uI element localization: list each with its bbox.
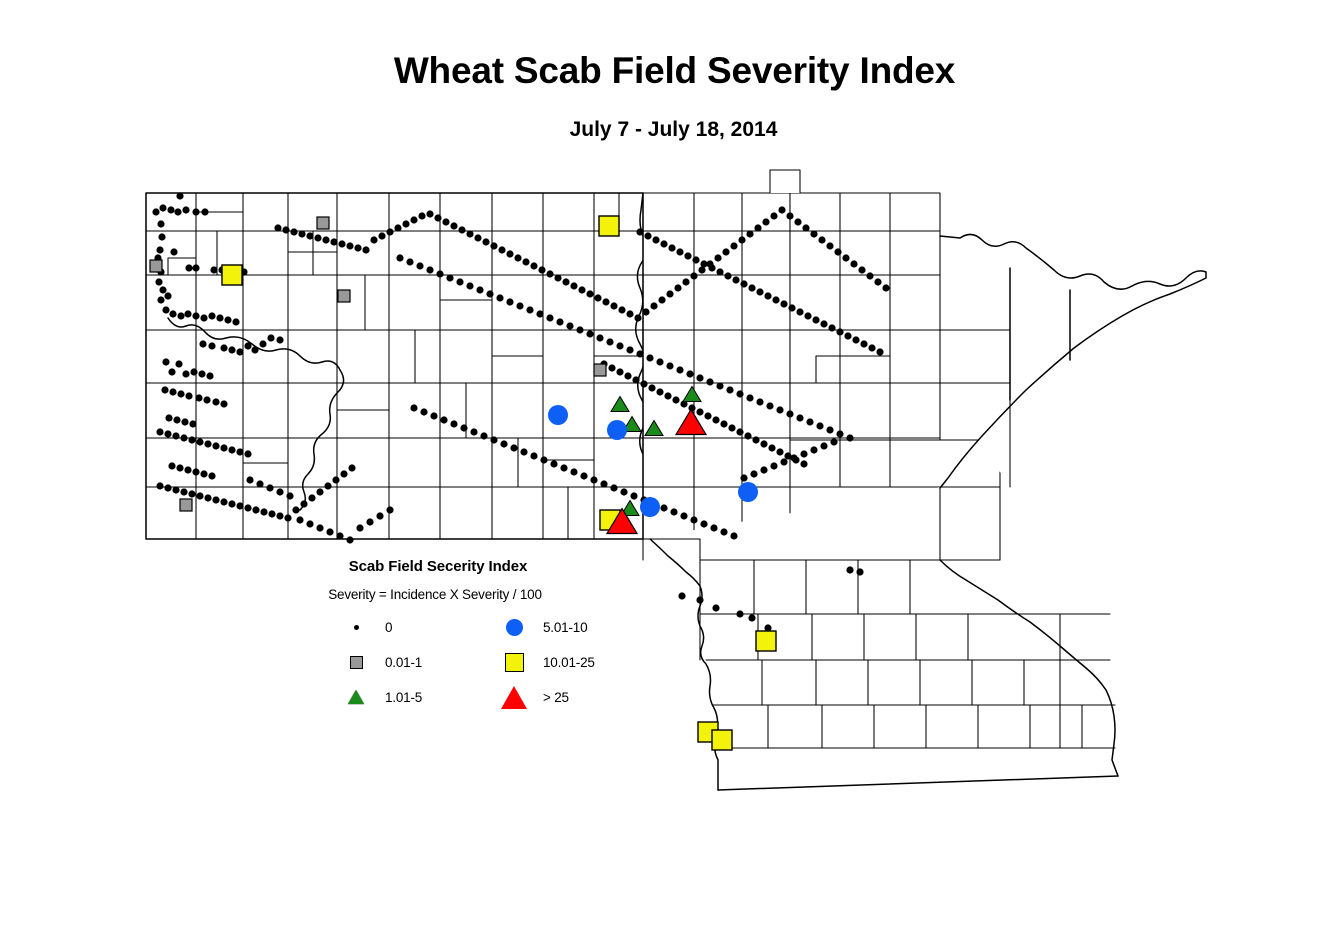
- marker-zero-dot: [656, 388, 663, 395]
- marker-zero-dot: [182, 370, 189, 377]
- marker-zero-dot: [816, 422, 823, 429]
- marker-zero-dot: [176, 192, 183, 199]
- marker-zero-dot: [678, 592, 685, 599]
- marker-zero-dot: [658, 296, 665, 303]
- marker-zero-dot: [156, 482, 163, 489]
- marker-gray-square: [180, 499, 192, 511]
- marker-zero-dot: [756, 398, 763, 405]
- mn-counties: [643, 170, 1115, 748]
- marker-zero-dot: [450, 222, 457, 229]
- marker-zero-dot: [624, 372, 631, 379]
- marker-zero-dot: [660, 240, 667, 247]
- marker-zero-dot: [730, 532, 737, 539]
- marker-zero-dot: [874, 278, 881, 285]
- marker-zero-dot: [828, 324, 835, 331]
- marker-zero-dot: [546, 270, 553, 277]
- marker-zero-dot: [346, 536, 353, 543]
- marker-zero-dot: [856, 568, 863, 575]
- marker-zero-dot: [776, 448, 783, 455]
- marker-zero-dot: [159, 286, 166, 293]
- marker-zero-dot: [794, 218, 801, 225]
- marker-zero-dot: [282, 226, 289, 233]
- marker-zero-dot: [626, 346, 633, 353]
- marker-blue-circle: [548, 405, 568, 425]
- marker-zero-dot: [800, 460, 807, 467]
- marker-zero-dot: [754, 224, 761, 231]
- marker-zero-dot: [852, 336, 859, 343]
- marker-zero-dot: [259, 340, 266, 347]
- marker-zero-dot: [736, 390, 743, 397]
- marker-zero-dot: [188, 490, 195, 497]
- marker-zero-dot: [682, 278, 689, 285]
- marker-zero-dot: [177, 312, 184, 319]
- marker-zero-dot: [554, 274, 561, 281]
- marker-zero-dot: [772, 296, 779, 303]
- marker-zero-dot: [576, 326, 583, 333]
- marker-zero-dot: [410, 404, 417, 411]
- marker-zero-dot: [668, 244, 675, 251]
- marker-zero-dot: [430, 412, 437, 419]
- marker-zero-dot: [466, 282, 473, 289]
- marker-zero-dot: [716, 268, 723, 275]
- marker-zero-dot: [224, 316, 231, 323]
- marker-gray-square: [150, 260, 162, 272]
- marker-zero-dot: [720, 528, 727, 535]
- marker-zero-dot: [634, 314, 641, 321]
- marker-zero-dot: [184, 466, 191, 473]
- marker-zero-dot: [177, 390, 184, 397]
- marker-zero-dot: [290, 228, 297, 235]
- marker-zero-dot: [208, 472, 215, 479]
- marker-yellow-square: [222, 265, 242, 285]
- marker-zero-dot: [522, 258, 529, 265]
- marker-zero-dot: [252, 506, 259, 513]
- marker-zero-dot: [426, 266, 433, 273]
- legend-symbol-10to25: [485, 651, 543, 673]
- marker-zero-dot: [644, 232, 651, 239]
- marker-zero-dot: [199, 340, 206, 347]
- marker-zero-dot: [308, 494, 315, 501]
- marker-zero-dot: [780, 458, 787, 465]
- marker-zero-dot: [204, 494, 211, 501]
- marker-zero-dot: [724, 272, 731, 279]
- marker-zero-dot: [216, 314, 223, 321]
- marker-zero-dot: [196, 438, 203, 445]
- marker-zero-dot: [672, 396, 679, 403]
- marker-zero-dot: [768, 444, 775, 451]
- marker-zero-dot: [174, 208, 181, 215]
- marker-zero-dot: [220, 344, 227, 351]
- marker-zero-dot: [632, 376, 639, 383]
- gray-square-icon: [350, 656, 363, 669]
- marker-zero-dot: [362, 246, 369, 253]
- marker-zero-dot: [366, 518, 373, 525]
- marker-zero-dot: [182, 206, 189, 213]
- legend-label-1to5: 1.01-5: [385, 690, 485, 705]
- marker-zero-dot: [690, 272, 697, 279]
- marker-zero-dot: [726, 386, 733, 393]
- marker-zero-dot: [284, 514, 291, 521]
- marker-zero-dot: [286, 492, 293, 499]
- marker-zero-dot: [378, 232, 385, 239]
- marker-zero-dot: [810, 230, 817, 237]
- marker-zero-dot: [220, 498, 227, 505]
- marker-zero-dot: [306, 232, 313, 239]
- marker-zero-dot: [244, 342, 251, 349]
- legend-symbol-over25: [485, 686, 543, 708]
- marker-zero-dot: [846, 434, 853, 441]
- marker-zero-dot: [500, 440, 507, 447]
- marker-zero-dot: [180, 434, 187, 441]
- marker-zero-dot: [752, 436, 759, 443]
- marker-zero-dot: [560, 464, 567, 471]
- marker-zero-dot: [169, 310, 176, 317]
- marker-zero-dot: [314, 234, 321, 241]
- marker-zero-dot: [640, 380, 647, 387]
- marker-zero-dot: [882, 284, 889, 291]
- green-triangle-icon: [348, 690, 364, 704]
- marker-zero-dot: [155, 278, 162, 285]
- marker-zero-dot: [420, 408, 427, 415]
- marker-zero-dot: [786, 212, 793, 219]
- marker-zero-dot: [578, 286, 585, 293]
- yellow-square-icon: [505, 653, 524, 672]
- marker-zero-dot: [748, 284, 755, 291]
- marker-zero-dot: [530, 262, 537, 269]
- marker-zero-dot: [203, 396, 210, 403]
- marker-zero-dot: [836, 430, 843, 437]
- marker-zero-dot: [700, 260, 707, 267]
- marker-zero-dot: [256, 480, 263, 487]
- marker-zero-dot: [169, 388, 176, 395]
- marker-zero-dot: [316, 524, 323, 531]
- marker-zero-dot: [176, 464, 183, 471]
- marker-zero-dot: [692, 256, 699, 263]
- marker-zero-dot: [434, 214, 441, 221]
- marker-zero-dot: [648, 384, 655, 391]
- marker-zero-dot: [172, 432, 179, 439]
- marker-zero-dot: [866, 272, 873, 279]
- marker-zero-dot: [686, 370, 693, 377]
- marker-zero-dot: [300, 500, 307, 507]
- marker-gray-square: [317, 217, 329, 229]
- small-black-dot-icon: [354, 625, 359, 630]
- marker-zero-dot: [157, 296, 164, 303]
- marker-zero-dot: [636, 350, 643, 357]
- marker-zero-dot: [664, 392, 671, 399]
- marker-zero-dot: [206, 372, 213, 379]
- marker-zero-dot: [562, 278, 569, 285]
- marker-zero-dot: [330, 238, 337, 245]
- marker-zero-dot: [260, 508, 267, 515]
- marker-zero-dot: [185, 264, 192, 271]
- marker-zero-dot: [670, 508, 677, 515]
- marker-zero-dot: [292, 506, 299, 513]
- marker-zero-dot: [170, 248, 177, 255]
- marker-zero-dot: [486, 290, 493, 297]
- red-triangle-icon: [501, 686, 527, 709]
- marker-zero-dot: [618, 306, 625, 313]
- marker-zero-dot: [236, 502, 243, 509]
- marker-zero-dot: [332, 476, 339, 483]
- marker-zero-dot: [740, 474, 747, 481]
- marker-zero-dot: [212, 398, 219, 405]
- marker-zero-dot: [156, 428, 163, 435]
- marker-zero-dot: [760, 466, 767, 473]
- marker-zero-dot: [348, 464, 355, 471]
- map-page: Wheat Scab Field Severity Index July 7 -…: [0, 0, 1341, 926]
- marker-zero-dot: [267, 334, 274, 341]
- marker-zero-dot: [860, 340, 867, 347]
- marker-zero-dot: [738, 236, 745, 243]
- legend-label-5to10: 5.01-10: [543, 620, 595, 635]
- marker-zero-dot: [650, 302, 657, 309]
- marker-zero-dot: [700, 520, 707, 527]
- marker-zero-dot: [756, 288, 763, 295]
- marker-zero-dot: [192, 208, 199, 215]
- legend-label-10to25: 10.01-25: [543, 655, 595, 670]
- marker-zero-dot: [550, 460, 557, 467]
- map-legend: Scab Field Secerity Index Severity = Inc…: [313, 558, 563, 708]
- marker-zero-dot: [570, 282, 577, 289]
- marker-zero-dot: [750, 470, 757, 477]
- marker-zero-dot: [676, 248, 683, 255]
- marker-zero-dot: [164, 292, 171, 299]
- marker-zero-dot: [228, 446, 235, 453]
- marker-zero-dot: [482, 238, 489, 245]
- marker-zero-dot: [306, 520, 313, 527]
- marker-zero-dot: [244, 504, 251, 511]
- marker-zero-dot: [630, 492, 637, 499]
- marker-zero-dot: [168, 368, 175, 375]
- marker-zero-dot: [610, 484, 617, 491]
- marker-zero-dot: [212, 496, 219, 503]
- marker-zero-dot: [356, 524, 363, 531]
- legend-entries: 0 5.01-10 0.01-1 10.01-25 1.01-5 > 25: [313, 616, 563, 708]
- marker-zero-dot: [164, 484, 171, 491]
- marker-zero-dot: [322, 236, 329, 243]
- marker-zero-dot: [610, 302, 617, 309]
- marker-zero-dot: [730, 242, 737, 249]
- marker-zero-dot: [244, 450, 251, 457]
- marker-zero-dot: [201, 208, 208, 215]
- marker-zero-dot: [386, 228, 393, 235]
- marker-gray-square: [338, 290, 350, 302]
- marker-zero-dot: [338, 240, 345, 247]
- legend-symbol-0to1: [327, 651, 385, 673]
- marker-zero-dot: [506, 250, 513, 257]
- marker-zero-dot: [710, 524, 717, 531]
- marker-zero-dot: [586, 330, 593, 337]
- marker-zero-dot: [802, 224, 809, 231]
- marker-zero-dot: [736, 610, 743, 617]
- marker-zero-dot: [192, 468, 199, 475]
- map-canvas[interactable]: [0, 0, 1341, 926]
- marker-zero-dot: [496, 294, 503, 301]
- legend-label-over25: > 25: [543, 690, 595, 705]
- marker-zero-dot: [196, 492, 203, 499]
- marker-zero-dot: [764, 292, 771, 299]
- marker-zero-dot: [298, 230, 305, 237]
- marker-zero-dot: [680, 512, 687, 519]
- marker-zero-dot: [674, 284, 681, 291]
- marker-zero-dot: [600, 480, 607, 487]
- marker-zero-dot: [820, 320, 827, 327]
- marker-zero-dot: [776, 406, 783, 413]
- marker-zero-dot: [520, 448, 527, 455]
- legend-label-0to1: 0.01-1: [385, 655, 485, 670]
- marker-zero-dot: [800, 450, 807, 457]
- marker-zero-dot: [712, 416, 719, 423]
- marker-zero-dot: [228, 346, 235, 353]
- marker-zero-dot: [189, 420, 196, 427]
- marker-zero-dot: [746, 230, 753, 237]
- marker-zero-dot: [556, 318, 563, 325]
- marker-zero-dot: [780, 300, 787, 307]
- marker-zero-dot: [228, 500, 235, 507]
- marker-zero-dot: [458, 226, 465, 233]
- marker-zero-dot: [276, 488, 283, 495]
- marker-zero-dot: [602, 298, 609, 305]
- marker-zero-dot: [180, 488, 187, 495]
- marker-zero-dot: [570, 468, 577, 475]
- marker-zero-dot: [704, 412, 711, 419]
- marker-zero-dot: [712, 604, 719, 611]
- marker-zero-dot: [162, 358, 169, 365]
- marker-zero-dot: [646, 354, 653, 361]
- marker-zero-dot: [590, 476, 597, 483]
- marker-zero-dot: [436, 270, 443, 277]
- marker-zero-dot: [846, 566, 853, 573]
- marker-zero-dot: [442, 218, 449, 225]
- marker-zero-dot: [766, 402, 773, 409]
- marker-zero-dot: [716, 382, 723, 389]
- marker-zero-dot: [200, 314, 207, 321]
- marker-zero-dot: [594, 294, 601, 301]
- marker-zero-dot: [426, 210, 433, 217]
- marker-zero-dot: [161, 386, 168, 393]
- marker-zero-dot: [804, 312, 811, 319]
- marker-zero-dot: [159, 204, 166, 211]
- marker-zero-dot: [456, 278, 463, 285]
- marker-zero-dot: [184, 310, 191, 317]
- marker-zero-dot: [706, 378, 713, 385]
- marker-gray-square: [594, 364, 606, 376]
- marker-zero-dot: [158, 233, 165, 240]
- marker-zero-dot: [720, 420, 727, 427]
- marker-zero-dot: [394, 224, 401, 231]
- marker-zero-dot: [538, 266, 545, 273]
- marker-zero-dot: [850, 260, 857, 267]
- marker-zero-dot: [652, 236, 659, 243]
- marker-zero-dot: [276, 512, 283, 519]
- marker-zero-dot: [708, 264, 715, 271]
- marker-zero-dot: [746, 394, 753, 401]
- marker-zero-dot: [636, 228, 643, 235]
- blue-circle-icon: [506, 619, 523, 636]
- marker-zero-dot: [696, 408, 703, 415]
- marker-zero-dot: [266, 484, 273, 491]
- marker-zero-dot: [208, 312, 215, 319]
- marker-yellow-square: [756, 631, 776, 651]
- marker-zero-dot: [608, 364, 615, 371]
- marker-zero-dot: [616, 368, 623, 375]
- marker-zero-dot: [526, 306, 533, 313]
- marker-zero-dot: [386, 506, 393, 513]
- marker-zero-dot: [208, 342, 215, 349]
- marker-zero-dot: [696, 596, 703, 603]
- marker-zero-dot: [778, 206, 785, 213]
- marker-zero-dot: [826, 426, 833, 433]
- marker-zero-dot: [834, 248, 841, 255]
- marker-zero-dot: [346, 242, 353, 249]
- marker-zero-dot: [232, 318, 239, 325]
- marker-zero-dot: [516, 302, 523, 309]
- marker-blue-circle: [607, 420, 627, 440]
- mn-south-border: [718, 776, 1118, 790]
- marker-zero-dot: [490, 436, 497, 443]
- marker-zero-dot: [204, 440, 211, 447]
- marker-yellow-square: [712, 730, 732, 750]
- legend-title: Scab Field Secerity Index: [313, 558, 563, 575]
- marker-zero-dot: [826, 242, 833, 249]
- marker-zero-dot: [736, 428, 743, 435]
- marker-zero-dot: [748, 614, 755, 621]
- marker-zero-dot: [195, 394, 202, 401]
- marker-zero-dot: [296, 516, 303, 523]
- marker-zero-dot: [684, 252, 691, 259]
- legend-symbol-5to10: [485, 616, 543, 638]
- marker-zero-dot: [274, 224, 281, 231]
- marker-zero-dot: [580, 472, 587, 479]
- marker-zero-dot: [460, 424, 467, 431]
- marker-zero-dot: [792, 456, 799, 463]
- marker-zero-dot: [316, 488, 323, 495]
- marker-blue-circle: [738, 482, 758, 502]
- marker-zero-dot: [162, 306, 169, 313]
- marker-zero-dot: [788, 304, 795, 311]
- marker-zero-dot: [666, 362, 673, 369]
- marker-zero-dot: [536, 310, 543, 317]
- marker-zero-dot: [165, 414, 172, 421]
- marker-zero-dot: [156, 246, 163, 253]
- marker-zero-dot: [470, 428, 477, 435]
- marker-zero-dot: [251, 346, 258, 353]
- marker-zero-dot: [418, 212, 425, 219]
- marker-zero-dot: [760, 440, 767, 447]
- marker-zero-dot: [796, 414, 803, 421]
- marker-zero-dot: [416, 262, 423, 269]
- marker-zero-dot: [844, 332, 851, 339]
- marker-zero-dot: [164, 430, 171, 437]
- marker-zero-dot: [842, 254, 849, 261]
- marker-zero-dot: [786, 410, 793, 417]
- marker-zero-dot: [514, 254, 521, 261]
- marker-zero-dot: [190, 368, 197, 375]
- marker-zero-dot: [762, 218, 769, 225]
- marker-zero-dot: [770, 462, 777, 469]
- marker-zero-dot: [324, 482, 331, 489]
- marker-blue-circle: [640, 497, 660, 517]
- marker-zero-dot: [376, 512, 383, 519]
- marker-zero-dot: [490, 242, 497, 249]
- marker-zero-dot: [370, 236, 377, 243]
- marker-zero-dot: [220, 400, 227, 407]
- marker-zero-dot: [181, 418, 188, 425]
- marker-zero-dot: [656, 358, 663, 365]
- marker-zero-dot: [696, 374, 703, 381]
- marker-zero-dot: [728, 424, 735, 431]
